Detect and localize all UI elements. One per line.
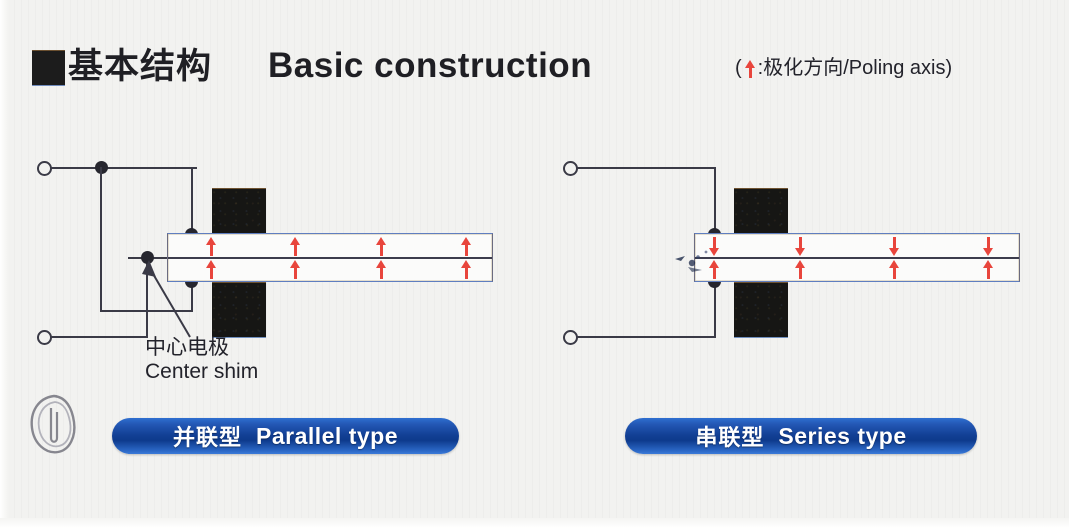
wire-branch-down [100,167,102,312]
clamp-block-lower [212,282,266,338]
center-shim-line-series [695,257,1019,259]
center-shim-callout-line [130,255,200,340]
wire-top-lead [51,167,197,169]
bimorph-beam-parallel [167,233,493,282]
clamp-block-upper [212,188,266,236]
terminal-top-parallel[interactable] [37,161,52,176]
poling-arrow-top-3-series [889,237,900,256]
poling-arrow-bottom-4 [461,260,472,279]
center-shim-label-cn: 中心电极 [145,336,258,360]
label-pill-series: 串联型 Series type [625,418,977,454]
bimorph-beam-series [694,233,1020,282]
pill-label-cn-parallel: 并联型 [173,420,242,452]
poling-arrow-top-2 [290,237,301,256]
poling-arrow-bottom-3-series [889,260,900,279]
wire-bottom-lead-series [577,336,716,338]
poling-arrow-bottom-2 [290,260,301,279]
pill-label-en-series: Series type [778,423,906,450]
wire-top-lead-series [577,167,716,169]
poling-axis-legend: (:极化方向/Poling axis) [735,54,952,82]
legend-close-paren: ) [946,57,953,79]
terminal-bottom-series[interactable] [563,330,578,345]
poling-arrow-bottom-4-series [983,260,994,279]
pill-label-cn-series: 串联型 [695,420,764,452]
center-shim-label-en: Center shim [145,360,258,384]
page-edge-bottom [0,518,1069,528]
page-title-cn: 基本结构 [68,45,212,89]
poling-arrow-top-4 [461,237,472,256]
legend-label: :极化方向/Poling axis [758,57,946,79]
page-title-en: Basic construction [268,44,592,88]
center-shim-callout-text: 中心电极 Center shim [145,336,258,384]
legend-open-paren: ( [735,57,742,79]
black-square-bullet-icon [32,50,65,86]
pill-label-en-parallel: Parallel type [256,423,398,450]
paperclip-artifact-icon [24,390,86,458]
terminal-top-series[interactable] [563,161,578,176]
poling-arrow-bottom-1 [206,260,217,279]
up-arrow-icon [745,60,756,78]
page-root: 基本结构 Basic construction (:极化方向/Poling ax… [0,0,1069,528]
poling-arrow-bottom-3 [376,260,387,279]
poling-arrow-top-1 [206,237,217,256]
clamp-block-upper-series [734,188,788,236]
label-pill-parallel: 并联型 Parallel type [112,418,459,454]
poling-arrow-top-4-series [983,237,994,256]
poling-arrow-top-2-series [795,237,806,256]
poling-arrow-bottom-2-series [795,260,806,279]
page-edge-left [0,0,9,528]
scan-smudge-artifact [672,243,720,275]
poling-arrow-top-3 [376,237,387,256]
terminal-bottom-parallel[interactable] [37,330,52,345]
clamp-block-lower-series [734,282,788,338]
center-shim-line [168,257,492,259]
